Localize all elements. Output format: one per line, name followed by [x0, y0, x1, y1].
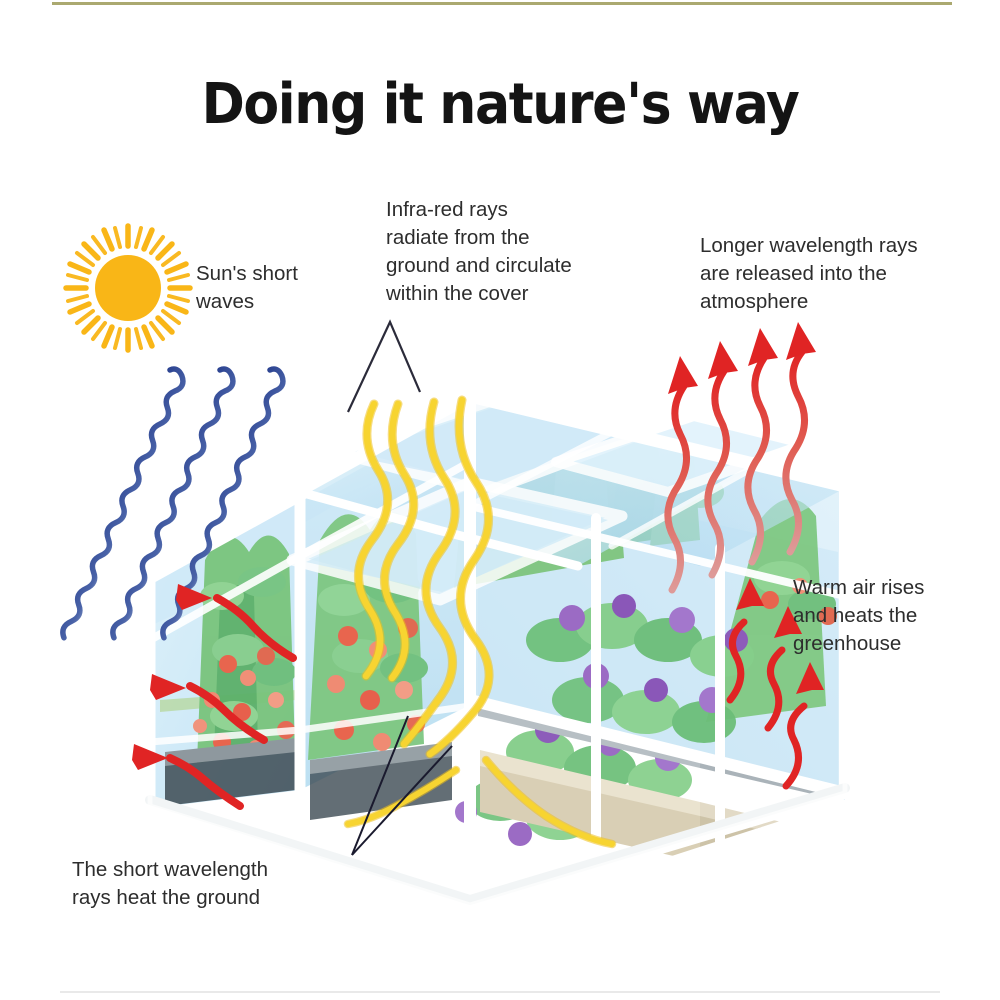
caption-longer-wavelength: Longer wavelength rays are released into…: [700, 232, 950, 316]
greenhouse-illustration: [0, 0, 1000, 1000]
sun-icon: [66, 226, 190, 350]
caption-short-wave-ground: The short wavelength rays heat the groun…: [72, 856, 352, 912]
infographic-canvas: Doing it nature's way: [0, 0, 1000, 1000]
greenhouse-body: [150, 396, 845, 905]
infrared-leader-line: [348, 322, 420, 412]
caption-sun-short-waves: Sun's short waves: [196, 260, 396, 316]
caption-warm-air-rises: Warm air rises and heats the greenhouse: [793, 574, 993, 658]
caption-infrared-rays: Infra-red rays radiate from the ground a…: [386, 196, 616, 308]
